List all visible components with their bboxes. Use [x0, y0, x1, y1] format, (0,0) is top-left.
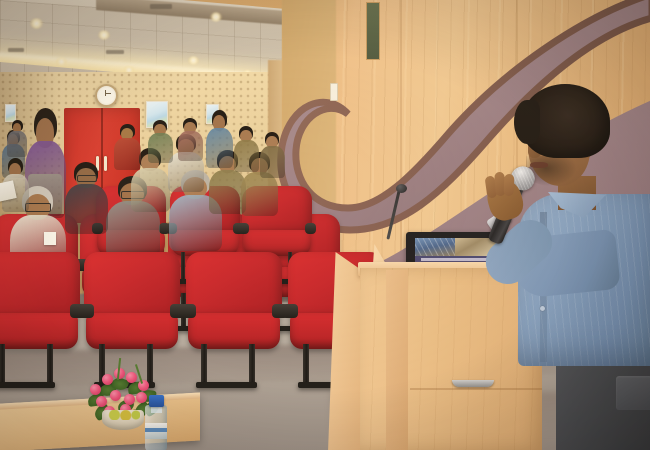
ceiling-vent	[106, 50, 124, 54]
eyeglasses	[77, 175, 97, 182]
wall-switch-plate	[330, 83, 338, 101]
slide-photo-solar-panels	[415, 238, 455, 256]
chair-seat	[0, 313, 78, 348]
pink-rose	[96, 396, 107, 407]
ceiling-downlight	[210, 12, 222, 22]
chair-leg-right	[249, 344, 254, 384]
bottle-cap	[149, 395, 164, 407]
pink-rose	[110, 390, 121, 401]
water-bottle	[145, 395, 167, 450]
audience-member-person-back-row-d	[232, 126, 260, 170]
torso	[241, 172, 279, 217]
auditorium-chair	[186, 252, 282, 370]
ceiling-vent	[150, 4, 172, 9]
audience-member-person-back-row-a	[112, 124, 142, 168]
audience-member-man-standing-back-blue	[204, 110, 234, 166]
torso	[178, 131, 203, 161]
torso	[131, 168, 171, 213]
shirt-button	[540, 306, 545, 311]
finger	[504, 174, 515, 196]
presenter-mouth	[530, 162, 548, 168]
chair-leg-left	[181, 252, 185, 281]
wall-clock	[95, 84, 118, 107]
torso	[114, 138, 141, 170]
auditorium-presentation-photo	[0, 0, 650, 450]
bottle-label-stripe	[145, 428, 167, 432]
ceiling-downlight	[56, 57, 67, 66]
ceiling-vent	[8, 48, 24, 52]
audience-member-man-dark-shirt-left	[62, 162, 110, 232]
chair-armrest-left	[282, 304, 297, 318]
presenter	[470, 84, 650, 450]
lectern-inner-fin	[386, 270, 408, 450]
chair-base-plate	[196, 382, 257, 388]
chair-backrest	[0, 252, 80, 320]
chair-backrest	[84, 252, 180, 320]
torso	[234, 140, 259, 172]
chair-leg-left	[303, 344, 308, 384]
ceiling-downlight	[30, 18, 43, 29]
name-badge	[44, 232, 55, 245]
chair-armrest-right	[305, 223, 316, 233]
torso	[65, 184, 108, 234]
audience-member-person-far-left-b	[0, 158, 30, 210]
audience-member-person-back-row-b	[146, 120, 174, 162]
chair-backrest	[186, 252, 282, 320]
pink-rose	[90, 384, 101, 395]
clock-minute-hand	[105, 93, 111, 94]
torso	[148, 133, 173, 163]
ceiling-downlight	[188, 56, 199, 65]
chair-armrest-left	[78, 304, 93, 318]
torso	[206, 128, 233, 168]
auditorium-chair	[0, 252, 80, 370]
ceiling-downlight	[98, 30, 110, 40]
gooseneck-microphone-head	[396, 184, 407, 193]
audience-member-person-back-row-c	[176, 118, 204, 160]
pink-rose	[126, 372, 137, 383]
presenter-trouser-pocket	[616, 376, 650, 410]
torso	[260, 146, 285, 178]
audience-member-person-far-left-c	[6, 120, 28, 156]
presenter-hair-fringe	[514, 100, 540, 144]
chair-base-plate	[0, 382, 55, 388]
chair-leg-right	[47, 344, 52, 384]
auditorium-chair	[84, 252, 180, 370]
torso	[7, 131, 27, 157]
solar-panel-grid	[415, 238, 455, 256]
pink-rose	[102, 374, 113, 385]
chair-armrest-left	[180, 304, 195, 318]
chair-leg-left	[0, 344, 5, 384]
chair-armrest-left	[238, 223, 249, 233]
audience-member-person-back-row-e	[258, 132, 286, 176]
bowl-fruit	[106, 410, 140, 420]
chair-leg-left	[201, 344, 206, 384]
